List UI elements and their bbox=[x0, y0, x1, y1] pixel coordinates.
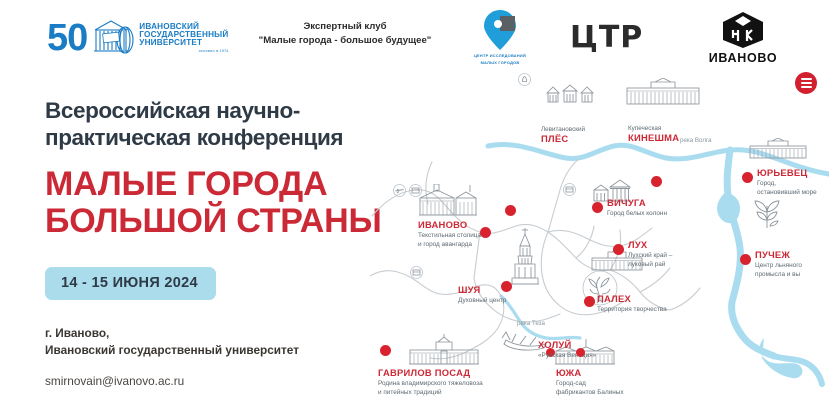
city-label-kineshma[interactable]: Купеческая КИНЕШМА bbox=[628, 125, 679, 143]
map-dot-yuryevets[interactable] bbox=[742, 172, 753, 183]
city-desc-kholuy-1: «Русская Венеция» bbox=[538, 352, 596, 360]
reservoir-shape bbox=[717, 192, 740, 223]
yuryevets-building-icon bbox=[748, 138, 808, 160]
city-label-ivanovo[interactable]: ИВАНОВО Текстильная столица и город аван… bbox=[418, 220, 481, 250]
city-label-gavrilov-posad[interactable]: ГАВРИЛОВ ПОСАД Родина владимирского тяже… bbox=[378, 368, 483, 398]
city-label-kholuy[interactable]: ХОЛУЙ «Русская Венеция» bbox=[538, 340, 596, 360]
city-name-puchezh: ПУЧЕЖ bbox=[755, 250, 802, 261]
university-line-3: УНИВЕРСИТЕТ bbox=[139, 39, 228, 47]
city-desc-gavrilov-posad-2: и питейных традиций bbox=[378, 389, 483, 397]
ivanovo-state-university-logo: 50 bbox=[47, 10, 197, 66]
city-name-palekh: ПАЛЕХ bbox=[597, 294, 667, 305]
ples-houses-icon bbox=[545, 83, 597, 108]
ivanovo-brand-logo: ИВАНОВО bbox=[695, 10, 791, 70]
city-desc-vichuga-1: Город белых колонн bbox=[607, 210, 667, 218]
conference-poster: 50 bbox=[0, 0, 829, 414]
city-desc-palekh-1: Территория творчества bbox=[597, 306, 667, 314]
expert-club-line-1: Экспертный клуб bbox=[230, 20, 460, 34]
city-name-vichuga: ВИЧУГА bbox=[607, 198, 667, 209]
city-desc-ivanovo-1: Текстильная столица bbox=[418, 232, 481, 240]
university-building-icon bbox=[89, 16, 135, 60]
gavrilov-posad-building-icon bbox=[408, 334, 480, 368]
train-icon bbox=[410, 266, 423, 279]
city-label-lukh[interactable]: ЛУХ Лухский край – луковый рай bbox=[628, 240, 672, 270]
map-dot-gavrilov-posad[interactable] bbox=[380, 345, 391, 356]
expert-club-line-2: "Малые города - большое будущее" bbox=[230, 34, 460, 48]
map-dot-puchezh[interactable] bbox=[740, 254, 751, 265]
city-name-yuryevets: ЮРЬЕВЕЦ bbox=[757, 168, 817, 179]
city-name-lukh: ЛУХ bbox=[628, 240, 672, 251]
ctr-logo: ЦТР bbox=[570, 20, 643, 55]
expert-club-title: Экспертный клуб "Малые города - большое … bbox=[230, 20, 460, 49]
cimg-caption-line-1: ЦЕНТР ИССЛЕДОВАНИЙ bbox=[462, 53, 538, 59]
map-dot-ivanovo[interactable] bbox=[480, 227, 491, 238]
map-dot-kineshma[interactable] bbox=[651, 176, 662, 187]
ivanovo-buildings-icon bbox=[418, 184, 478, 218]
city-desc-yuzha-2: фабрикантов Балиных bbox=[556, 389, 624, 397]
city-label-palekh[interactable]: ПАЛЕХ Территория творчества bbox=[597, 294, 667, 314]
city-name-kineshma: КИНЕШМА bbox=[628, 133, 679, 144]
river-label-volga: река Волга bbox=[680, 137, 712, 144]
city-desc-yuryevets-2: остановивший море bbox=[757, 189, 817, 197]
city-name-shuya: ШУЯ bbox=[458, 285, 506, 296]
city-name-kholuy: ХОЛУЙ bbox=[538, 340, 596, 351]
city-name-ivanovo: ИВАНОВО bbox=[418, 220, 481, 231]
city-name-gavrilov-posad: ГАВРИЛОВ ПОСАД bbox=[378, 368, 483, 379]
puchezh-flax-icon bbox=[750, 198, 784, 230]
shuya-church-icon bbox=[510, 228, 540, 286]
city-desc-lukh-2: луковый рай bbox=[628, 261, 672, 269]
city-desc-puchezh-1: Центр льняного bbox=[755, 262, 802, 270]
city-label-shuya[interactable]: ШУЯ Духовный центр bbox=[458, 285, 506, 305]
city-desc-shuya-1: Духовный центр bbox=[458, 297, 506, 305]
city-desc-yuzha-1: Город-сад bbox=[556, 380, 624, 388]
train-icon bbox=[563, 183, 576, 196]
map-dot-palekh[interactable] bbox=[584, 296, 595, 307]
city-name-yuzha: ЮЖА bbox=[556, 368, 624, 379]
logo-bar: 50 bbox=[0, 0, 829, 78]
city-desc-yuryevets-1: Город, bbox=[757, 180, 817, 188]
venue-city: г. Иваново, bbox=[45, 325, 299, 342]
university-name-block: ИВАНОВСКИЙ ГОСУДАРСТВЕННЫЙ УНИВЕРСИТЕТ о… bbox=[139, 23, 228, 54]
city-name-ples: ПЛЁС bbox=[541, 134, 585, 145]
bell-icon bbox=[518, 73, 531, 86]
ivanovo-wordmark: ИВАНОВО bbox=[695, 51, 791, 65]
airplane-icon bbox=[393, 184, 406, 197]
city-label-ples[interactable]: Левитановский ПЛЁС bbox=[541, 126, 585, 144]
city-label-yuzha[interactable]: ЮЖА Город-сад фабрикантов Балиных bbox=[556, 368, 624, 398]
city-desc-gavrilov-posad-1: Родина владимирского тяжеловоза bbox=[378, 380, 483, 388]
venue-institution: Ивановский государственный университет bbox=[45, 342, 299, 359]
ivanovo-diamond-icon bbox=[717, 10, 769, 50]
anniversary-50-text: 50 bbox=[47, 19, 87, 57]
center-for-small-cities-research-logo: ЦЕНТР ИССЛЕДОВАНИЙ МАЛЫХ ГОРОДОВ bbox=[462, 8, 538, 70]
river-label-teza: река Теза bbox=[517, 320, 545, 327]
region-map: река Волга река Теза Левитановский ПЛЁС … bbox=[370, 80, 829, 414]
conference-date-badge: 14 - 15 ИЮНЯ 2024 bbox=[45, 267, 216, 300]
city-desc-lukh-1: Лухский край – bbox=[628, 252, 672, 260]
city-label-yuryevets[interactable]: ЮРЬЕВЕЦ Город, остановивший море bbox=[757, 168, 817, 198]
venue-block: г. Иваново, Ивановский государственный у… bbox=[45, 325, 299, 359]
map-dot-ples[interactable] bbox=[505, 205, 516, 216]
contact-email[interactable]: smirnovain@ivanovo.ac.ru bbox=[45, 374, 184, 388]
city-label-puchezh[interactable]: ПУЧЕЖ Центр льняного промысла и вы bbox=[755, 250, 802, 280]
city-desc-puchezh-2: промысла и вы bbox=[755, 271, 802, 279]
map-dot-yuzha[interactable] bbox=[576, 348, 585, 357]
map-dot-lukh[interactable] bbox=[613, 244, 624, 255]
kineshma-building-icon bbox=[625, 78, 701, 108]
city-desc-ivanovo-2: и город авангарда bbox=[418, 241, 481, 249]
map-dot-vichuga[interactable] bbox=[592, 202, 603, 213]
cimg-caption-line-2: МАЛЫХ ГОРОДОВ bbox=[462, 60, 538, 66]
university-since-text: основан в 1974 bbox=[139, 50, 228, 54]
map-pin-icon bbox=[477, 8, 523, 52]
city-label-vichuga[interactable]: ВИЧУГА Город белых колонн bbox=[607, 198, 667, 218]
